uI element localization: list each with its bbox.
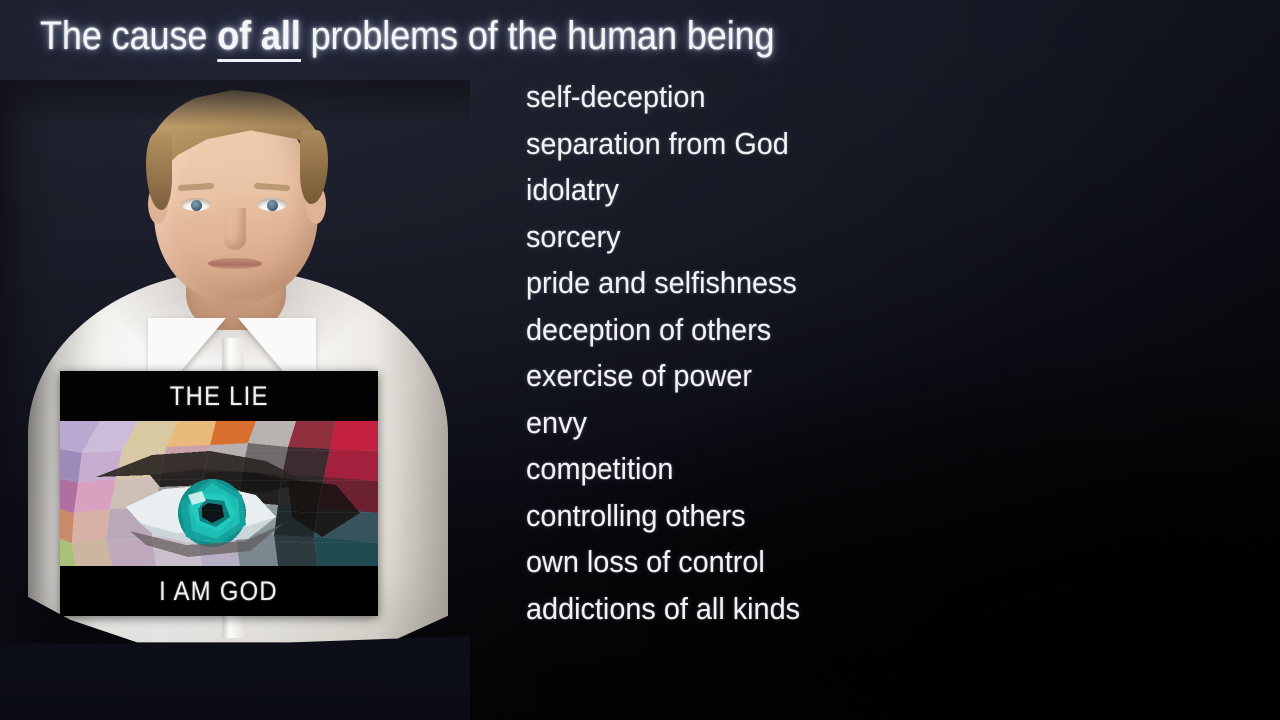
problems-list: self-deception separation from God idola… — [526, 74, 1146, 632]
pupil-left — [191, 200, 202, 211]
list-item: deception of others — [526, 307, 1103, 354]
low-poly-eye-image — [60, 421, 378, 566]
pupil-right — [267, 200, 278, 211]
presentation-slide: The cause of all problems of the human b… — [0, 0, 1280, 720]
list-item: sorcery — [526, 214, 1103, 261]
the-lie-label: THE LIE — [169, 381, 268, 412]
photo-bottom-crop — [0, 636, 470, 720]
slide-title: The cause of all problems of the human b… — [40, 11, 774, 61]
list-item: self-deception — [526, 74, 1103, 121]
the-lie-top-bar: THE LIE — [60, 371, 378, 421]
title-emphasis: of all — [217, 14, 300, 62]
presenter-mouth — [208, 258, 262, 269]
the-lie-panel: THE LIE I AM GOD — [60, 371, 378, 616]
i-am-god-label: I AM GOD — [160, 576, 279, 607]
list-item: competition — [526, 446, 1103, 493]
list-item: pride and selfishness — [526, 260, 1103, 307]
title-text-after: problems of the human being — [301, 14, 775, 58]
list-item: exercise of power — [526, 353, 1103, 400]
title-text-before: The cause — [40, 14, 217, 58]
list-item: idolatry — [526, 167, 1103, 214]
list-item: addictions of all kinds — [526, 586, 1103, 633]
presenter-nose — [224, 208, 246, 250]
list-item: envy — [526, 400, 1103, 447]
i-am-god-bottom-bar: I AM GOD — [60, 566, 378, 616]
list-item: separation from God — [526, 121, 1103, 168]
list-item: controlling others — [526, 493, 1103, 540]
list-item: own loss of control — [526, 539, 1103, 586]
